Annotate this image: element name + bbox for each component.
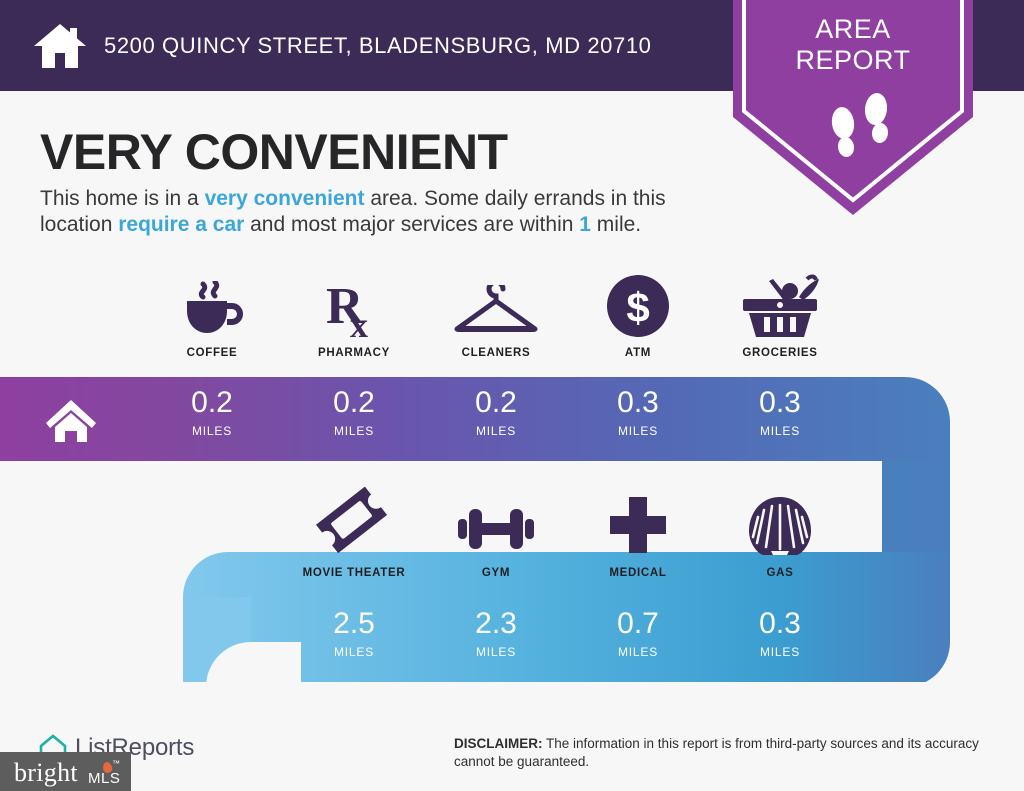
distance-groceries: 0.3MILES — [709, 377, 851, 461]
distance-unit: MILES — [567, 645, 709, 659]
distance-unit: MILES — [567, 424, 709, 438]
distance-coffee: 0.2MILES — [141, 377, 283, 461]
category-movie-theater: MOVIE THEATER — [283, 497, 425, 579]
clothes-hanger-icon — [425, 277, 567, 339]
bright-name: bright — [14, 758, 78, 788]
desc-highlight-1: very convenient — [205, 187, 365, 210]
distance-unit: MILES — [283, 645, 425, 659]
movie-ticket-icon — [283, 497, 425, 559]
category-coffee: COFFEE — [141, 277, 283, 359]
desc-highlight-2: require a car — [118, 213, 244, 236]
category-label: MOVIE THEATER — [283, 567, 425, 579]
category-gym: GYM — [425, 497, 567, 579]
distance-medical: 0.7MILES — [567, 598, 709, 682]
category-atm: $ ATM — [567, 277, 709, 359]
category-label: COFFEE — [141, 347, 283, 359]
category-label: GROCERIES — [709, 347, 851, 359]
category-label: GYM — [425, 567, 567, 579]
distance-value: 2.5 — [283, 608, 425, 640]
row-1-categories: COFFEE R x PHARMACY CLEANERS $ ATM GROCE… — [141, 277, 851, 367]
bright-mls-label: MLS — [88, 770, 120, 787]
category-cleaners: CLEANERS — [425, 277, 567, 359]
distance-value: 0.3 — [709, 387, 851, 419]
disclaimer: DISCLAIMER: The information in this repo… — [454, 735, 994, 771]
disclaimer-label: DISCLAIMER: — [454, 736, 543, 751]
category-label: GAS — [709, 567, 851, 579]
rx-icon: R x — [283, 277, 425, 339]
distance-unit: MILES — [283, 424, 425, 438]
distance-value: 0.7 — [567, 608, 709, 640]
badge-line-2: REPORT — [733, 45, 973, 76]
dumbbell-icon — [425, 497, 567, 559]
distance-value: 0.3 — [709, 608, 851, 640]
distance-unit: MILES — [425, 645, 567, 659]
distance-movie-theater: 2.5MILES — [283, 598, 425, 682]
distance-gas: 0.3MILES — [709, 598, 851, 682]
page-title: VERY CONVENIENT — [40, 123, 508, 181]
svg-text:x: x — [350, 305, 368, 339]
category-label: MEDICAL — [567, 567, 709, 579]
shell-icon — [709, 497, 851, 559]
desc-part-1: This home is in a — [40, 187, 205, 210]
distance-value: 0.2 — [141, 387, 283, 419]
distance-value: 0.2 — [425, 387, 567, 419]
distance-unit: MILES — [709, 645, 851, 659]
property-address: 5200 QUINCY STREET, BLADENSBURG, MD 2071… — [104, 33, 652, 59]
svg-text:$: $ — [626, 284, 649, 331]
coffee-cup-icon — [141, 277, 283, 339]
category-label: CLEANERS — [425, 347, 567, 359]
distance-pharmacy: 0.2MILES — [283, 377, 425, 461]
desc-part-3: and most major services are within — [244, 213, 579, 236]
row-2-categories: MOVIE THEATER GYM MEDICAL GAS — [283, 497, 851, 587]
bright-mls-watermark: bright ™ MLS — [0, 752, 131, 791]
trademark-symbol: ™ — [112, 759, 120, 768]
distance-value: 0.2 — [283, 387, 425, 419]
distance-value: 2.3 — [425, 608, 567, 640]
home-icon — [32, 22, 88, 70]
area-report-badge: AREA REPORT — [733, 0, 973, 215]
distance-unit: MILES — [709, 424, 851, 438]
dollar-circle-icon: $ — [567, 277, 709, 339]
badge-label: AREA REPORT — [733, 14, 973, 76]
category-medical: MEDICAL — [567, 497, 709, 579]
badge-line-1: AREA — [733, 14, 973, 45]
medical-cross-icon — [567, 497, 709, 559]
desc-part-4: mile. — [591, 213, 641, 236]
distance-unit: MILES — [425, 424, 567, 438]
category-groceries: GROCERIES — [709, 277, 851, 359]
category-gas: GAS — [709, 497, 851, 579]
home-marker-cell — [0, 377, 141, 461]
category-label: PHARMACY — [283, 347, 425, 359]
distance-cleaners: 0.2MILES — [425, 377, 567, 461]
distance-atm: 0.3MILES — [567, 377, 709, 461]
category-pharmacy: R x PHARMACY — [283, 277, 425, 359]
page-description: This home is in a very convenient area. … — [40, 186, 720, 238]
distance-gym: 2.3MILES — [425, 598, 567, 682]
category-label: ATM — [567, 347, 709, 359]
distance-unit: MILES — [141, 424, 283, 438]
distance-value: 0.3 — [567, 387, 709, 419]
desc-highlight-3: 1 — [579, 213, 591, 236]
grocery-basket-icon — [709, 277, 851, 339]
home-icon — [42, 399, 100, 443]
